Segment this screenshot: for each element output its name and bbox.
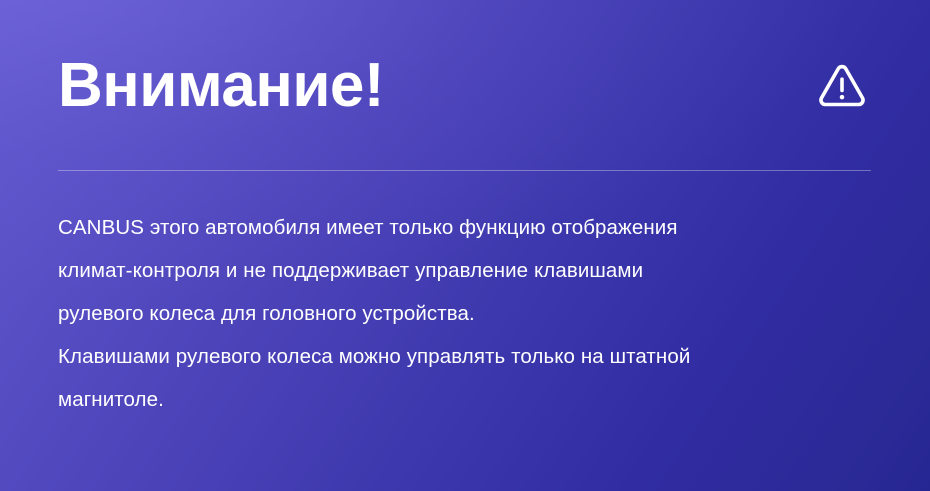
page-title: Внимание! <box>58 55 384 117</box>
warning-banner: Внимание! CANBUS этого автомобиля имеет … <box>0 0 930 491</box>
body-line: CANBUS этого автомобиля имеет только фун… <box>58 206 888 249</box>
body-line: Клавишами рулевого колеса можно управлят… <box>58 335 888 378</box>
body-line: климат-контроля и не поддерживает управл… <box>58 249 888 292</box>
banner-header: Внимание! <box>58 55 872 117</box>
body-line: магнитоле. <box>58 378 888 421</box>
header-divider <box>58 170 871 171</box>
warning-triangle-icon <box>814 58 872 114</box>
body-line: рулевого колеса для головного устройства… <box>58 292 888 335</box>
warning-body-text: CANBUS этого автомобиля имеет только фун… <box>58 206 888 421</box>
